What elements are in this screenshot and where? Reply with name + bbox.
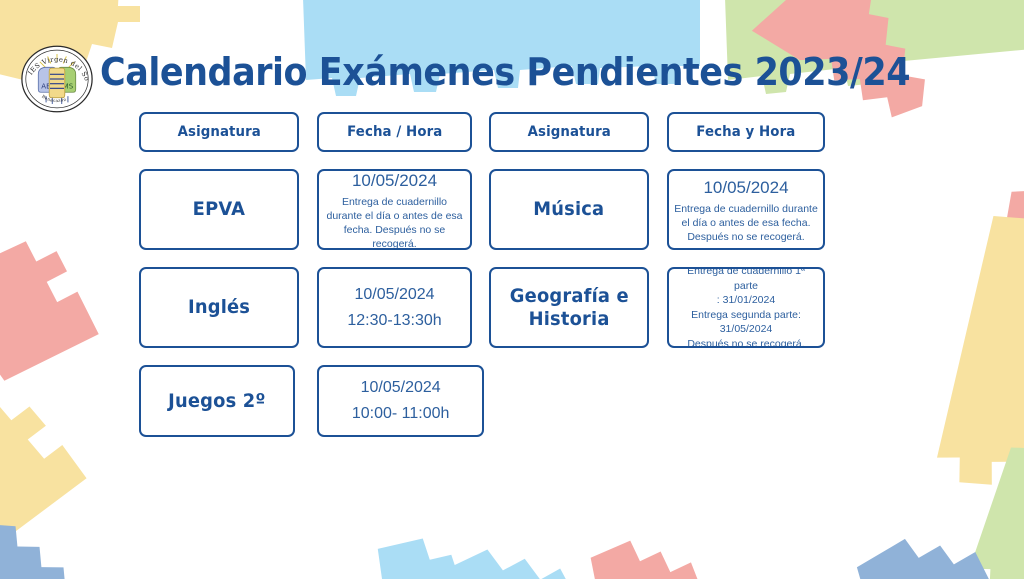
note-line: Entrega de cuadernillo 1ª parte	[669, 267, 823, 293]
note-label: Entrega de cuadernillo durante el día o …	[669, 200, 823, 244]
empty-cell	[501, 365, 657, 437]
subject-cell-juegos: Juegos 2º	[139, 365, 295, 437]
table-row: Juegos 2º 10/05/2024 10:00- 11:00h	[139, 365, 829, 437]
note-line: 31/05/2024	[715, 322, 778, 337]
note-line: Después no se recogerá.	[682, 337, 809, 349]
date-label: 10/05/2024	[354, 282, 434, 308]
header-cell-fecha-hora-2: Fecha y Hora	[667, 112, 825, 152]
header-cell-asignatura-2: Asignatura	[489, 112, 649, 152]
subject-label: Juegos 2º	[168, 390, 266, 413]
exam-schedule-table: Asignatura Fecha / Hora Asignatura Fecha…	[139, 112, 829, 437]
header-label: Asignatura	[527, 124, 610, 140]
date-cell-juegos: 10/05/2024 10:00- 11:00h	[317, 365, 485, 437]
subject-cell-epva: EPVA	[139, 169, 299, 250]
table-row: EPVA 10/05/2024 Entrega de cuadernillo d…	[139, 169, 829, 250]
time-label: 10:00- 11:00h	[352, 401, 450, 427]
table-header-row: Asignatura Fecha / Hora Asignatura Fecha…	[139, 112, 829, 152]
table-row: Inglés 10/05/2024 12:30-13:30h Geografía…	[139, 267, 829, 348]
date-label: 10/05/2024	[703, 176, 788, 200]
time-label: 12:30-13:30h	[347, 308, 441, 334]
note-label: Entrega de cuadernillo durante el día o …	[319, 193, 470, 251]
subject-label: EPVA	[193, 198, 245, 221]
header-label: Fecha / Hora	[347, 124, 442, 140]
header-cell-asignatura-1: Asignatura	[139, 112, 299, 152]
subject-label: Inglés	[188, 296, 250, 319]
subject-label: Música	[533, 198, 604, 221]
date-label: 10/05/2024	[361, 375, 441, 401]
date-cell-musica: 10/05/2024 Entrega de cuadernillo durant…	[667, 169, 825, 250]
subject-cell-musica: Música	[489, 169, 649, 250]
poster-header: AB MS	[0, 38, 1024, 108]
page-title: Calendario Exámenes Pendientes 2023/24	[100, 44, 910, 100]
poster-page: AB MS	[0, 0, 1024, 579]
note-line: Entrega segunda parte:	[686, 308, 806, 323]
date-cell-ingles: 10/05/2024 12:30-13:30h	[317, 267, 472, 348]
header-label: Asignatura	[177, 124, 260, 140]
header-label: Fecha y Hora	[696, 124, 795, 140]
subject-label-line1: Geografía e	[509, 285, 628, 308]
note-line: : 31/01/2024	[712, 293, 780, 308]
header-cell-fecha-hora-1: Fecha / Hora	[317, 112, 472, 152]
school-logo-icon: AB MS	[18, 40, 96, 118]
date-cell-geografia-historia: Entrega de cuadernillo 1ª parte : 31/01/…	[667, 267, 825, 348]
date-label: 10/05/2024	[352, 169, 437, 193]
date-cell-epva: 10/05/2024 Entrega de cuadernillo durant…	[317, 169, 472, 250]
empty-cell	[675, 365, 829, 437]
subject-label-line2: Historia	[528, 308, 609, 331]
subject-cell-ingles: Inglés	[139, 267, 299, 348]
subject-cell-geografia-historia: Geografía e Historia	[489, 267, 649, 348]
